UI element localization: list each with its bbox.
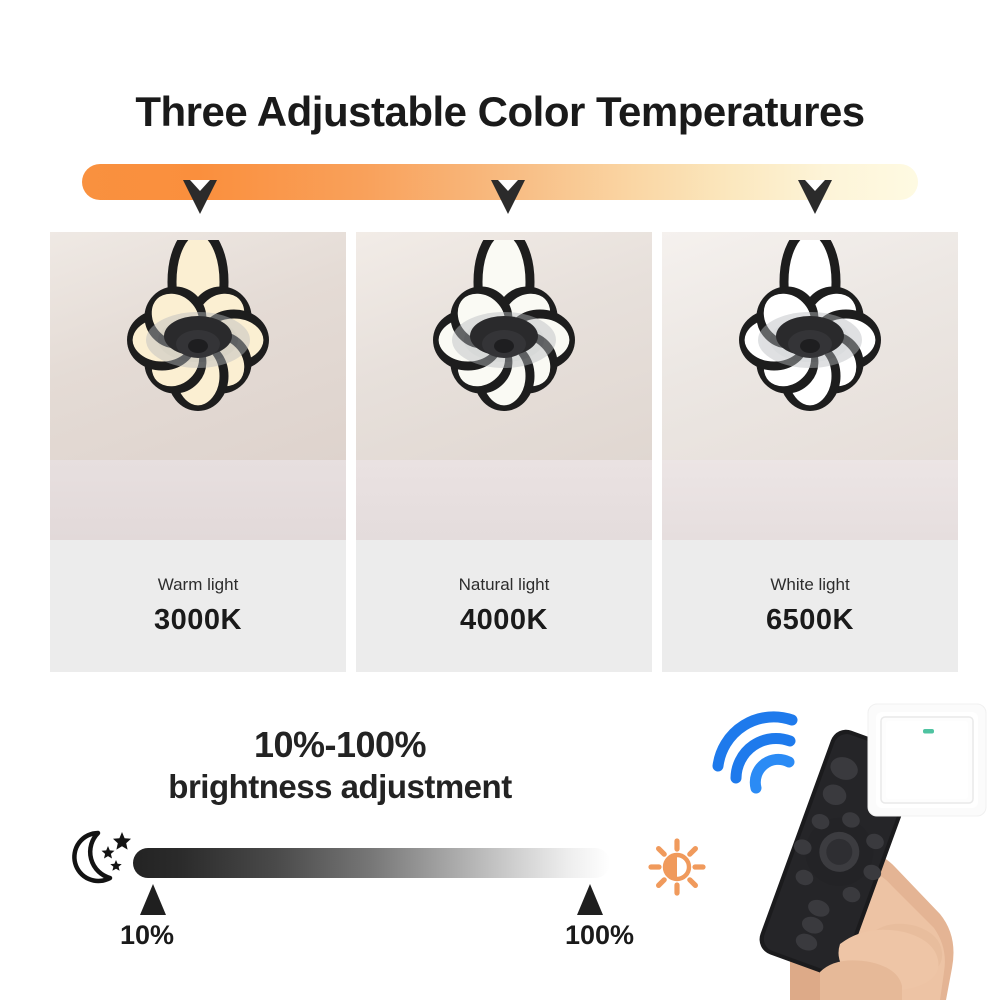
color-temperature-cards: Warm light 3000K [50,232,960,672]
brightness-range-label: 10%-100% [60,724,620,766]
card-white-light: White light 6500K [662,232,958,672]
light-type-label: Natural light [459,575,550,595]
moon-stars-icon [68,822,140,892]
card-caption: White light 6500K [662,540,958,672]
down-arrow-icon [798,180,832,214]
brightness-slider[interactable] [133,848,610,878]
card-caption: Warm light 3000K [50,540,346,672]
product-photo [662,232,958,540]
wall-background [356,460,652,540]
up-arrow-icon [577,884,603,915]
infographic-page: Three Adjustable Color Temperatures [0,0,1000,1000]
flower-ceiling-fan-lamp [364,240,644,440]
card-natural-light: Natural light 4000K [356,232,652,672]
brightness-min-label: 10% [120,920,174,951]
kelvin-value: 3000K [154,604,242,637]
card-warm-light: Warm light 3000K [50,232,346,672]
light-type-label: Warm light [158,575,239,595]
wall-switch-icon[interactable] [862,698,994,822]
switch-indicator-led [923,729,934,734]
flower-ceiling-fan-lamp [670,240,950,440]
wall-background [662,460,958,540]
up-arrow-icon [140,884,166,915]
kelvin-value: 4000K [460,604,548,637]
brightness-max-label: 100% [565,920,634,951]
light-type-label: White light [770,575,849,595]
product-photo [356,232,652,540]
flower-ceiling-fan-lamp [58,240,338,440]
wall-background [50,460,346,540]
page-title: Three Adjustable Color Temperatures [0,88,1000,136]
brightness-heading: 10%-100% brightness adjustment [60,724,620,807]
product-photo [50,232,346,540]
kelvin-value: 6500K [766,604,854,637]
down-arrow-icon [491,180,525,214]
brightness-subtitle: brightness adjustment [60,768,620,807]
wall-switch[interactable] [862,698,994,827]
card-caption: Natural light 4000K [356,540,652,672]
down-arrow-icon [183,180,217,214]
